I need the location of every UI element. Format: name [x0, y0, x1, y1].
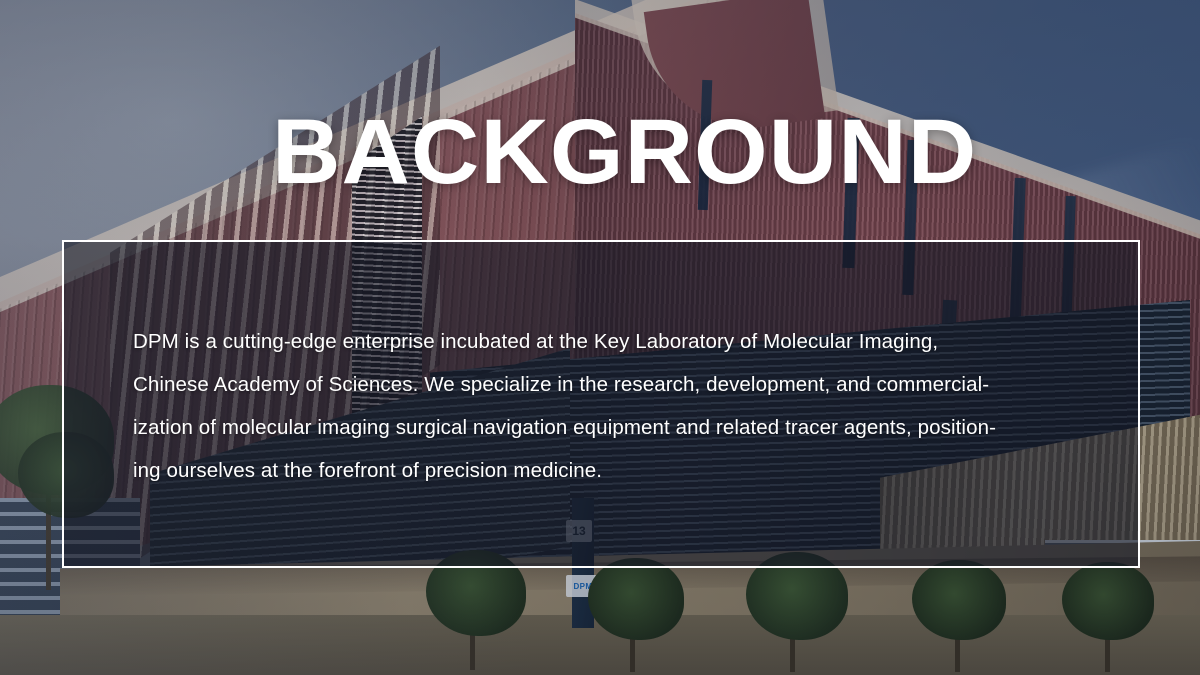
content-panel: DPM is a cutting-edge enterprise incubat…	[62, 240, 1140, 568]
panel-line: DPM is a cutting-edge enterprise incubat…	[133, 320, 1086, 363]
page-title: BACKGROUND	[272, 106, 977, 198]
panel-paragraph: DPM is a cutting-edge enterprise incubat…	[133, 320, 1086, 492]
panel-line: Chinese Academy of Sciences. We speciali…	[133, 363, 1086, 406]
panel-line: ing ourselves at the forefront of precis…	[133, 449, 1086, 492]
tree-foliage	[912, 560, 1006, 640]
panel-line: ization of molecular imaging surgical na…	[133, 406, 1086, 449]
slide-background: 13 DPM BACKGROUND DPM is a cutting-edge …	[0, 0, 1200, 675]
tree-foliage	[1062, 562, 1154, 640]
tree-foliage	[588, 558, 684, 640]
